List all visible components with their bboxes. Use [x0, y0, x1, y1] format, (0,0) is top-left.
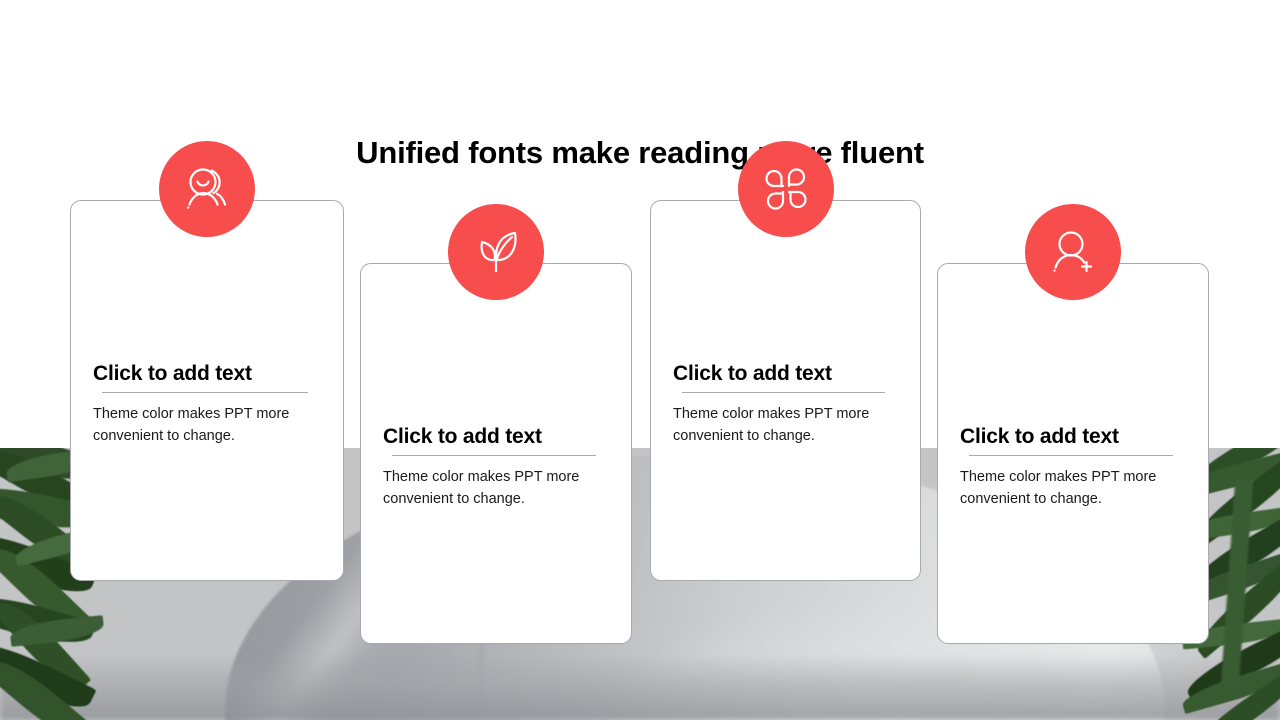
background-floor — [0, 654, 1280, 720]
add-user-icon — [1025, 204, 1121, 300]
card-body: Click to add text Theme color makes PPT … — [93, 361, 321, 447]
card-body: Click to add text Theme color makes PPT … — [673, 361, 898, 447]
card-divider — [392, 455, 596, 456]
card-body: Click to add text Theme color makes PPT … — [960, 424, 1186, 510]
leaf-sprout-icon — [448, 204, 544, 300]
card-divider — [682, 392, 885, 393]
feature-card[interactable]: Click to add text Theme color makes PPT … — [70, 200, 344, 581]
card-heading: Click to add text — [960, 424, 1186, 450]
card-heading: Click to add text — [673, 361, 898, 387]
card-description: Theme color makes PPT more convenient to… — [960, 466, 1186, 510]
card-heading: Click to add text — [383, 424, 609, 450]
feature-card[interactable]: Click to add text Theme color makes PPT … — [360, 263, 632, 644]
card-divider — [102, 392, 308, 393]
card-body: Click to add text Theme color makes PPT … — [383, 424, 609, 510]
people-group-icon — [159, 141, 255, 237]
card-divider — [969, 455, 1173, 456]
feature-card[interactable]: Click to add text Theme color makes PPT … — [937, 263, 1209, 644]
card-description: Theme color makes PPT more convenient to… — [673, 403, 898, 447]
slide-canvas: Unified fonts make reading more fluent C… — [0, 0, 1280, 720]
feature-card[interactable]: Click to add text Theme color makes PPT … — [650, 200, 921, 581]
card-heading: Click to add text — [93, 361, 321, 387]
card-description: Theme color makes PPT more convenient to… — [383, 466, 609, 510]
card-description: Theme color makes PPT more convenient to… — [93, 403, 321, 447]
four-petal-clover-icon — [738, 141, 834, 237]
